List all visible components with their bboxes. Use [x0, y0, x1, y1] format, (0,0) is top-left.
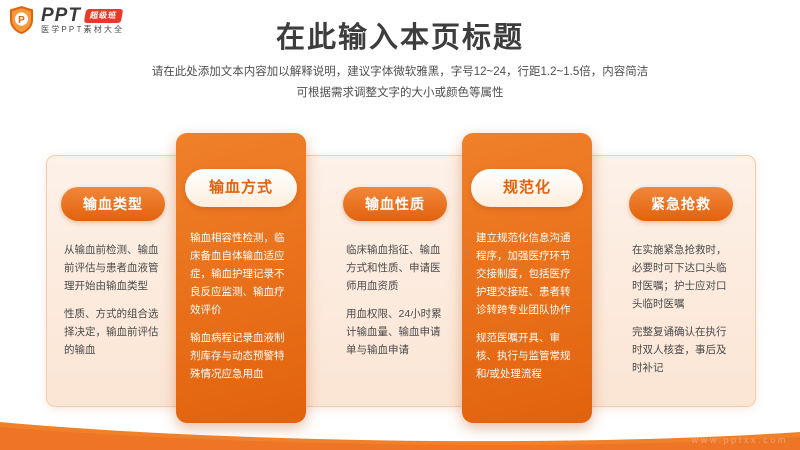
card-item[interactable]: 输血类型 从输血前检测、输血前评估与患者血液管理开始由输血类型 性质、方式的组合… [50, 155, 176, 405]
card-paragraph: 完整复诵确认在执行时双人核查，事后及时补记 [632, 323, 730, 377]
card-body: 建立规范化信息沟通程序，加强医疗环节交接制度，包括医疗护理交接班、患者转诊转跨专… [462, 229, 592, 383]
card-label: 输血类型 [61, 187, 165, 221]
card-paragraph: 输血相容性检测，临床备血自体输血适应症，输血护理记录不良反应监测、输血疗效评价 [190, 229, 292, 319]
card-item[interactable]: 规范化 建立规范化信息沟通程序，加强医疗环节交接制度，包括医疗护理交接班、患者转… [462, 133, 592, 423]
card-paragraph: 在实施紧急抢救时，必要时可下达口头临时医嘱；护士应对口头临时医嘱 [632, 241, 730, 313]
card-paragraph: 临床输血指征、输血方式和性质、申请医师用血资质 [346, 241, 444, 295]
watermark: www.pptxx.com [692, 435, 788, 445]
card-group: 输血类型 从输血前检测、输血前评估与患者血液管理开始由输血类型 性质、方式的组合… [0, 0, 800, 450]
card-item[interactable]: 输血方式 输血相容性检测，临床备血自体输血适应症，输血护理记录不良反应监测、输血… [176, 133, 306, 423]
card-body: 从输血前检测、输血前评估与患者血液管理开始由输血类型 性质、方式的组合选择决定，… [50, 241, 176, 359]
card-label: 规范化 [471, 169, 583, 207]
card-body: 临床输血指征、输血方式和性质、申请医师用血资质 用血权限、24小时累计输血量、输… [332, 241, 458, 359]
card-paragraph: 建立规范化信息沟通程序，加强医疗环节交接制度，包括医疗护理交接班、患者转诊转跨专… [476, 229, 578, 319]
card-paragraph: 输血病程记录血液制剂库存与动态预警特殊情况应急用血 [190, 329, 292, 383]
card-label: 输血性质 [343, 187, 447, 221]
card-body: 输血相容性检测，临床备血自体输血适应症，输血护理记录不良反应监测、输血疗效评价 … [176, 229, 306, 383]
card-paragraph: 从输血前检测、输血前评估与患者血液管理开始由输血类型 [64, 241, 162, 295]
card-label: 紧急抢救 [629, 187, 733, 221]
card-item[interactable]: 紧急抢救 在实施紧急抢救时，必要时可下达口头临时医嘱；护士应对口头临时医嘱 完整… [618, 155, 744, 405]
card-label: 输血方式 [185, 169, 297, 207]
card-item[interactable]: 输血性质 临床输血指征、输血方式和性质、申请医师用血资质 用血权限、24小时累计… [332, 155, 458, 405]
card-paragraph: 用血权限、24小时累计输血量、输血申请单与输血申请 [346, 305, 444, 359]
card-paragraph: 性质、方式的组合选择决定，输血前评估的输血 [64, 305, 162, 359]
card-paragraph: 规范医嘱开具、审核、执行与监管常规和/或处理流程 [476, 329, 578, 383]
card-body: 在实施紧急抢救时，必要时可下达口头临时医嘱；护士应对口头临时医嘱 完整复诵确认在… [618, 241, 744, 377]
bottom-decoration [0, 408, 800, 450]
